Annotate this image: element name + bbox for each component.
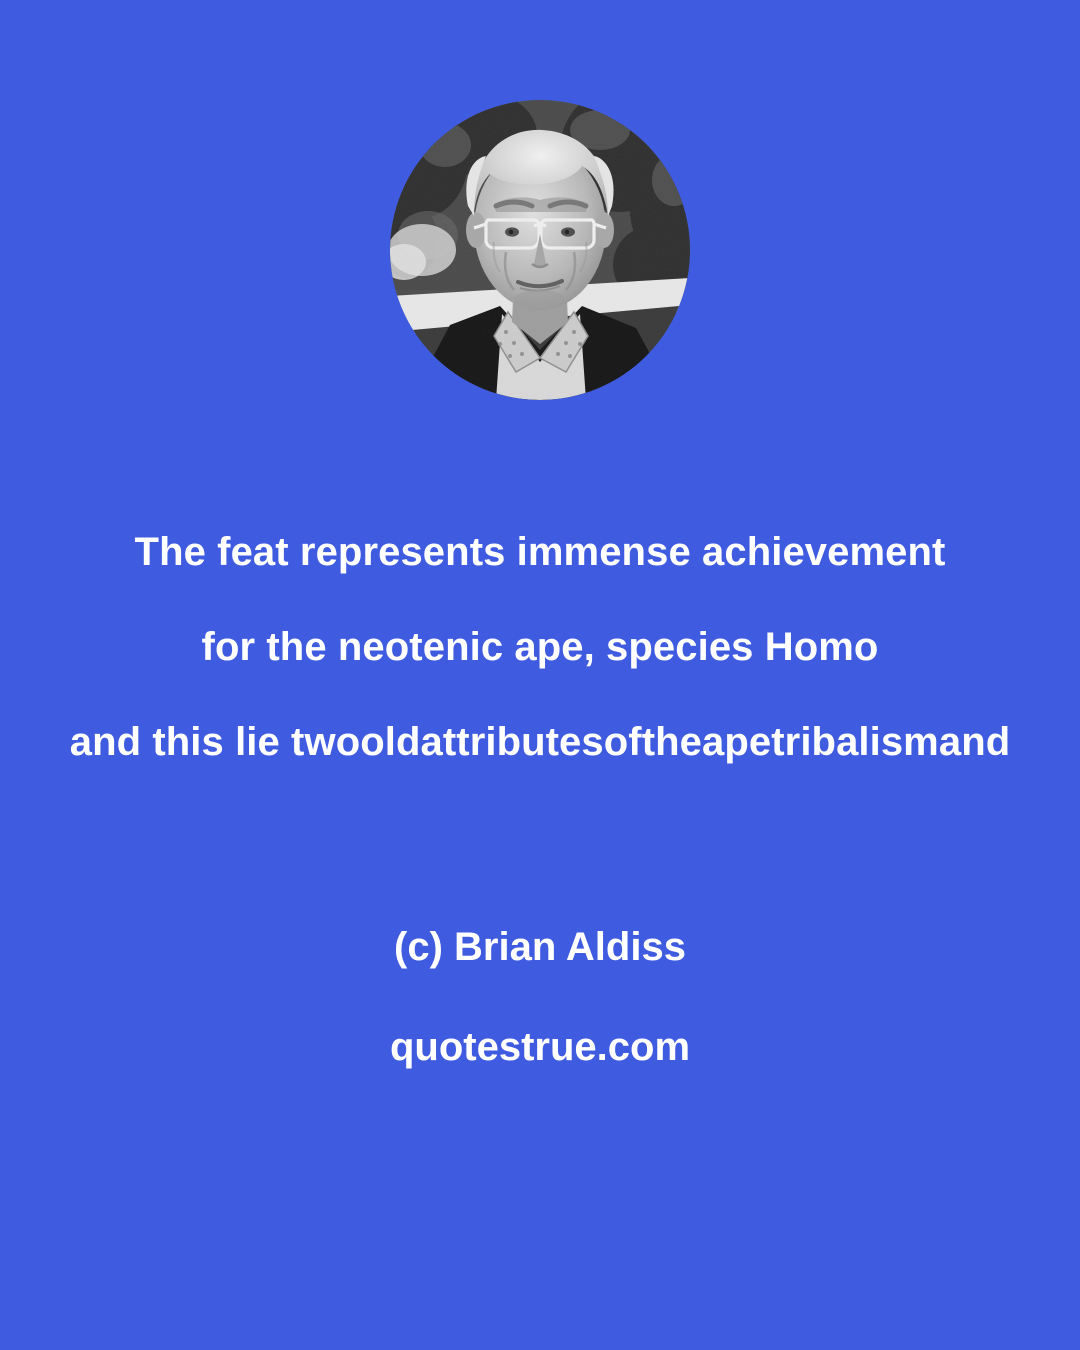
site-watermark: quotestrue.com (0, 1025, 1080, 1070)
author-portrait (390, 100, 690, 400)
quote-text: The feat represents immense achievement … (0, 505, 1080, 790)
quote-line-3: and this lie twooldattributesoftheapetri… (0, 695, 1080, 790)
author-portrait-container (390, 100, 690, 400)
quote-attribution: (c) Brian Aldiss (0, 925, 1080, 970)
quote-card: The feat represents immense achievement … (0, 0, 1080, 1350)
quote-line-1: The feat represents immense achievement (0, 505, 1080, 600)
quote-line-2: for the neotenic ape, species Homo (0, 600, 1080, 695)
